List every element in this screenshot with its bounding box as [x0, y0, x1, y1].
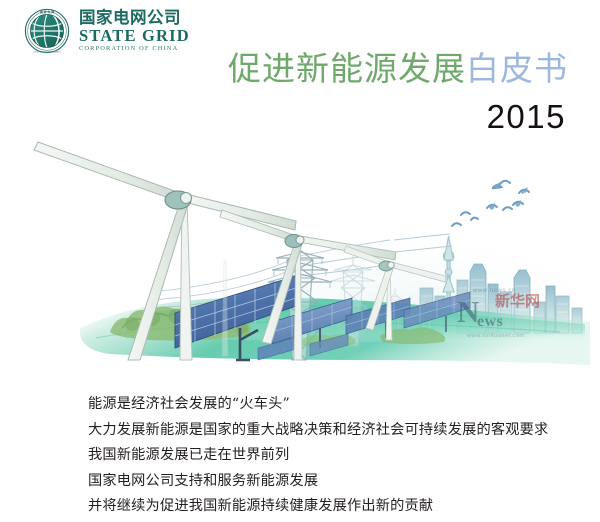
logo-wordmark: 国家电网公司 STATE GRID CORPORATION OF CHINA — [79, 10, 190, 52]
slogan-line: 大力发展新能源是国家的重大战略决策和经济社会可持续发展的客观要求 — [88, 418, 568, 444]
slogan-line: 国家电网公司支持和服务新能源发展 — [88, 469, 568, 495]
slogan-line: 并将继续为促进我国新能源持续健康发展作出新的贡献 — [88, 494, 568, 520]
svg-text:国 家 电 网: 国 家 电 网 — [40, 10, 55, 14]
slogan-line: 我国新能源发展已走在世界前列 — [88, 443, 568, 469]
page-title: 促进新能源发展白皮书 — [228, 42, 568, 90]
slogan-line: 能源是经济社会发展的“火车头” — [88, 392, 568, 418]
logo-company-en: STATE GRID — [79, 28, 190, 45]
slogan-list: 能源是经济社会发展的“火车头” 大力发展新能源是国家的重大战略决策和经济社会可持… — [88, 392, 568, 520]
white-paper-cover: 国 家 电 网 STATE GRID CORPORATION 国家电网公司 ST… — [0, 0, 600, 522]
title-accent-text: 白皮书 — [466, 49, 568, 88]
svg-text:STATE GRID CORPORATION: STATE GRID CORPORATION — [33, 51, 61, 54]
title-main-text: 促进新能源发展 — [228, 49, 466, 88]
state-grid-logo: 国 家 电 网 STATE GRID CORPORATION 国家电网公司 ST… — [24, 8, 190, 54]
title-year: 2015 — [487, 98, 566, 136]
logo-company-cn: 国家电网公司 — [79, 10, 190, 27]
logo-company-en-sub: CORPORATION OF CHINA — [79, 46, 190, 52]
state-grid-globe-emblem: 国 家 电 网 STATE GRID CORPORATION — [24, 8, 70, 54]
